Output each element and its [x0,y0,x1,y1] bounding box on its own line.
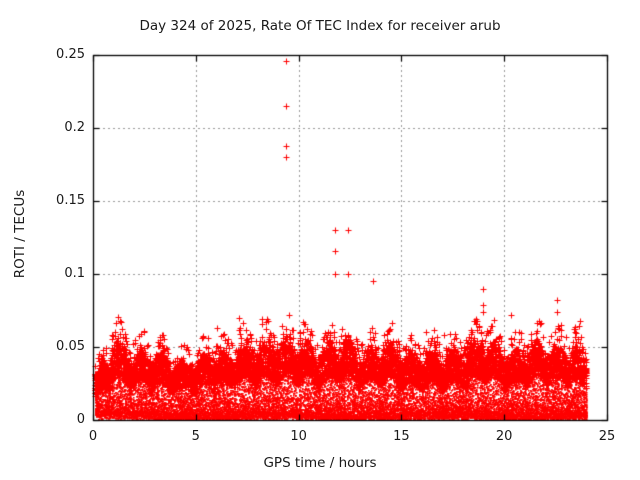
x-tick-label: 0 [63,429,123,444]
x-tick-label: 5 [166,429,226,444]
x-tick-label: 20 [474,429,534,444]
plot-canvas [0,0,640,480]
chart-title: Day 324 of 2025, Rate Of TEC Index for r… [0,18,640,34]
x-tick-label: 15 [371,429,431,444]
roti-scatter-plot: Day 324 of 2025, Rate Of TEC Index for r… [0,0,640,480]
y-axis-label: ROTI / TECUs [12,164,28,304]
x-tick-label: 10 [269,429,329,444]
y-axis-label-wrap: ROTI / TECUs [0,0,30,480]
x-axis-label: GPS time / hours [0,455,640,471]
x-tick-label: 25 [577,429,637,444]
y-tick-label: 0.2 [15,120,85,135]
y-tick-label: 0.25 [15,47,85,62]
y-tick-label: 0.1 [15,266,85,281]
y-tick-label: 0 [15,412,85,427]
y-tick-label: 0.05 [15,339,85,354]
y-tick-label: 0.15 [15,193,85,208]
